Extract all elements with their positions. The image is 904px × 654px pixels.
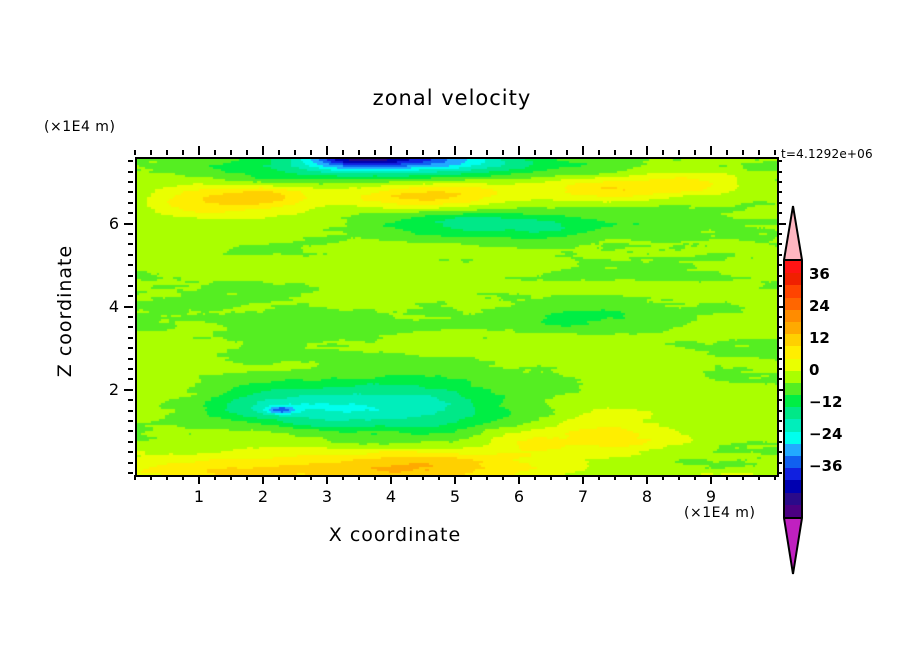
y-tick-minor (128, 472, 133, 474)
x-tick-label: 2 (248, 487, 278, 506)
y-tick-minor-right (777, 160, 782, 162)
x-tick-minor (486, 475, 488, 480)
x-tick-label: 3 (312, 487, 342, 506)
y-tick-minor (128, 420, 133, 422)
x-tick-major-top (326, 146, 328, 155)
x-tick-minor-top (486, 150, 488, 155)
x-tick-minor-top (422, 150, 424, 155)
x-tick-major-top (390, 146, 392, 155)
x-tick-minor (294, 475, 296, 480)
y-tick-minor-right (777, 410, 782, 412)
x-tick-minor (150, 475, 152, 480)
x-tick-minor (422, 475, 424, 480)
y-tick-minor (128, 441, 133, 443)
y-tick-minor-right (777, 316, 782, 318)
x-tick-minor (758, 475, 760, 480)
y-tick-minor (128, 358, 133, 360)
y-tick-minor (128, 368, 133, 370)
x-tick-minor (662, 475, 664, 480)
colorbar-tick-label: 0 (809, 361, 819, 379)
x-tick-minor-top (550, 150, 552, 155)
x-tick-minor (374, 475, 376, 480)
y-tick-minor-right (777, 368, 782, 370)
x-tick-minor (358, 475, 360, 480)
time-annotation: t=4.1292e+06 (781, 147, 873, 161)
y-tick-minor-right (777, 233, 782, 235)
x-axis-title: X coordinate (0, 524, 790, 546)
x-tick-label: 4 (376, 487, 406, 506)
contour-plot-area (135, 157, 779, 477)
y-tick-minor-right (777, 275, 782, 277)
y-tick-label: 4 (95, 297, 119, 316)
colorbar-tick-label: −24 (809, 425, 842, 443)
y-tick-minor-right (777, 378, 782, 380)
colorbar-segment (783, 493, 803, 505)
x-tick-label: 9 (696, 487, 726, 506)
page-title: zonal velocity (0, 86, 904, 110)
x-tick-minor (214, 475, 216, 480)
y-axis-title: Z coordinate (54, 211, 76, 411)
figure-canvas: zonal velocity (×1E4 m) t=4.1292e+06 123… (0, 0, 904, 654)
x-tick-minor (502, 475, 504, 480)
y-tick-minor (128, 181, 133, 183)
colorbar-segment (783, 261, 803, 273)
x-tick-minor-top (294, 150, 296, 155)
colorbar-segment (783, 432, 803, 444)
y-tick-minor (128, 378, 133, 380)
y-tick-minor-right (777, 264, 782, 266)
y-tick-minor (128, 451, 133, 453)
x-tick-minor-top (134, 150, 136, 155)
y-tick-minor-right (777, 399, 782, 401)
x-tick-minor-top (566, 150, 568, 155)
y-tick-minor (128, 285, 133, 287)
colorbar-segments (783, 261, 803, 517)
y-tick-minor (128, 264, 133, 266)
x-tick-minor-top (470, 150, 472, 155)
x-tick-minor (342, 475, 344, 480)
x-tick-minor-top (358, 150, 360, 155)
x-tick-minor (678, 475, 680, 480)
x-tick-major (198, 475, 200, 484)
y-tick-minor (128, 430, 133, 432)
x-tick-minor-top (246, 150, 248, 155)
colorbar-segment (783, 371, 803, 383)
x-tick-major (390, 475, 392, 484)
colorbar-segment (783, 322, 803, 334)
contour-field (137, 159, 777, 475)
x-tick-minor-top (166, 150, 168, 155)
colorbar-segment (783, 383, 803, 395)
x-tick-major (646, 475, 648, 484)
y-tick-minor-right (777, 326, 782, 328)
colorbar-tick-label: −12 (809, 393, 842, 411)
x-axis-unit-label: (×1E4 m) (684, 505, 755, 521)
y-tick-minor (128, 191, 133, 193)
x-tick-minor-top (694, 150, 696, 155)
y-tick-minor (128, 275, 133, 277)
x-tick-minor (166, 475, 168, 480)
x-tick-minor-top (278, 150, 280, 155)
x-tick-minor (310, 475, 312, 480)
colorbar-tick-label: 24 (809, 297, 830, 315)
x-tick-minor (630, 475, 632, 480)
y-tick-major (124, 389, 133, 391)
colorbar-segment (783, 419, 803, 431)
x-tick-major-top (262, 146, 264, 155)
x-tick-label: 7 (568, 487, 598, 506)
x-tick-minor (774, 475, 776, 480)
x-tick-minor-top (598, 150, 600, 155)
colorbar-segment (783, 505, 803, 517)
x-tick-minor-top (502, 150, 504, 155)
colorbar-segment (783, 285, 803, 297)
colorbar-segment (783, 346, 803, 358)
x-tick-major (326, 475, 328, 484)
x-tick-major-top (198, 146, 200, 155)
y-tick-minor-right (777, 181, 782, 183)
x-tick-minor-top (214, 150, 216, 155)
y-tick-minor-right (777, 285, 782, 287)
colorbar-overflow-arrow (783, 205, 803, 261)
colorbar-segment (783, 310, 803, 322)
y-tick-major (124, 306, 133, 308)
x-tick-minor (230, 475, 232, 480)
x-tick-minor-top (534, 150, 536, 155)
x-tick-minor-top (438, 150, 440, 155)
colorbar-tick-label: −36 (809, 457, 842, 475)
x-tick-minor-top (310, 150, 312, 155)
y-axis-unit-label: (×1E4 m) (44, 119, 115, 135)
y-tick-minor-right (777, 295, 782, 297)
x-tick-minor-top (662, 150, 664, 155)
y-tick-major (124, 223, 133, 225)
colorbar: 3624120−12−24−36 (783, 205, 803, 575)
x-tick-minor-top (182, 150, 184, 155)
x-tick-minor (550, 475, 552, 480)
y-tick-label: 6 (95, 214, 119, 233)
y-tick-minor (128, 295, 133, 297)
y-tick-minor (128, 212, 133, 214)
x-tick-minor (438, 475, 440, 480)
colorbar-segment (783, 334, 803, 346)
x-tick-minor (598, 475, 600, 480)
x-tick-minor-top (614, 150, 616, 155)
x-tick-major (262, 475, 264, 484)
y-tick-minor (128, 233, 133, 235)
x-tick-major (582, 475, 584, 484)
y-tick-minor-right (777, 472, 782, 474)
x-tick-minor-top (150, 150, 152, 155)
y-tick-minor-right (777, 212, 782, 214)
x-tick-major (454, 475, 456, 484)
x-tick-minor (278, 475, 280, 480)
x-tick-major-top (454, 146, 456, 155)
y-tick-minor-right (777, 243, 782, 245)
x-tick-minor (470, 475, 472, 480)
x-tick-minor-top (678, 150, 680, 155)
x-tick-minor (694, 475, 696, 480)
y-tick-minor (128, 243, 133, 245)
colorbar-segment (783, 456, 803, 468)
x-tick-minor-top (406, 150, 408, 155)
y-tick-label: 2 (95, 380, 119, 399)
y-tick-minor (128, 410, 133, 412)
y-tick-minor (128, 202, 133, 204)
x-tick-major-top (646, 146, 648, 155)
x-tick-label: 5 (440, 487, 470, 506)
y-tick-minor-right (777, 451, 782, 453)
x-tick-minor-top (774, 150, 776, 155)
x-tick-minor (134, 475, 136, 480)
y-tick-minor (128, 462, 133, 464)
x-tick-minor (534, 475, 536, 480)
y-tick-minor (128, 316, 133, 318)
y-tick-minor (128, 254, 133, 256)
y-tick-minor-right (777, 337, 782, 339)
x-tick-label: 8 (632, 487, 662, 506)
colorbar-segment (783, 480, 803, 492)
x-tick-minor (726, 475, 728, 480)
y-tick-minor-right (777, 462, 782, 464)
x-tick-minor (742, 475, 744, 480)
y-tick-minor-right (777, 191, 782, 193)
y-tick-minor (128, 171, 133, 173)
y-tick-minor-right (777, 420, 782, 422)
colorbar-segment (783, 395, 803, 407)
colorbar-segment (783, 407, 803, 419)
x-tick-minor-top (230, 150, 232, 155)
y-tick-minor (128, 326, 133, 328)
y-tick-minor (128, 337, 133, 339)
y-tick-minor (128, 347, 133, 349)
x-tick-label: 1 (184, 487, 214, 506)
colorbar-segment (783, 468, 803, 480)
x-tick-minor-top (726, 150, 728, 155)
x-tick-minor-top (630, 150, 632, 155)
x-tick-major-top (582, 146, 584, 155)
y-tick-minor (128, 160, 133, 162)
y-tick-minor-right (777, 171, 782, 173)
y-tick-minor-right (777, 358, 782, 360)
y-tick-minor (128, 399, 133, 401)
x-tick-label: 6 (504, 487, 534, 506)
y-tick-minor-right (777, 202, 782, 204)
colorbar-underflow-arrow (783, 517, 803, 575)
colorbar-segment (783, 273, 803, 285)
x-tick-minor (566, 475, 568, 480)
colorbar-segment (783, 359, 803, 371)
x-tick-minor (406, 475, 408, 480)
colorbar-segment (783, 298, 803, 310)
x-tick-minor-top (374, 150, 376, 155)
x-tick-minor (614, 475, 616, 480)
y-tick-minor-right (777, 441, 782, 443)
x-tick-minor-top (758, 150, 760, 155)
x-tick-minor-top (742, 150, 744, 155)
colorbar-segment (783, 444, 803, 456)
colorbar-tick-label: 36 (809, 265, 830, 283)
y-tick-minor-right (777, 347, 782, 349)
x-tick-major (710, 475, 712, 484)
colorbar-tick-label: 12 (809, 329, 830, 347)
x-tick-major (518, 475, 520, 484)
x-tick-minor (246, 475, 248, 480)
x-tick-minor (182, 475, 184, 480)
x-tick-major-top (518, 146, 520, 155)
x-tick-major-top (710, 146, 712, 155)
y-tick-minor-right (777, 254, 782, 256)
x-tick-minor-top (342, 150, 344, 155)
y-tick-minor-right (777, 430, 782, 432)
